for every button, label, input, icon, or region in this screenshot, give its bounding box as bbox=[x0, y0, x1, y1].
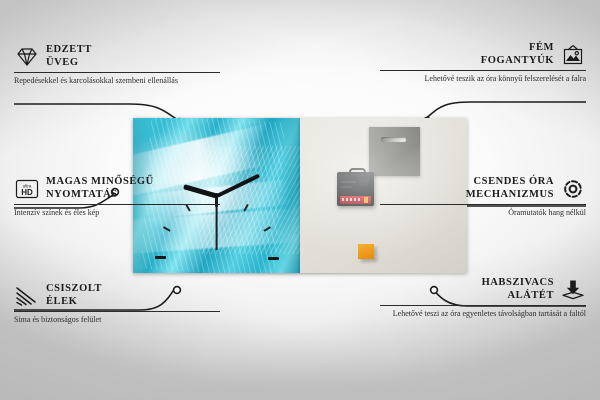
callout-rule bbox=[14, 204, 220, 205]
callout-rule bbox=[14, 311, 220, 312]
diamond-icon bbox=[14, 46, 40, 68]
callout-tempered-glass: EDZETT ÜVEG Repedésekkel és karcolásokka… bbox=[14, 44, 220, 86]
callout-rule bbox=[380, 70, 586, 71]
hanger-plate bbox=[369, 127, 420, 176]
callout-quiet-mechanism: CSENDES ÓRA MECHANIZMUS Óramutatók hang … bbox=[380, 176, 586, 218]
callout-title: MAGAS MINŐSÉGŰ NYOMTATÁS bbox=[46, 176, 154, 201]
callout-head: HABSZIVACS ALÁTÉT bbox=[380, 277, 586, 302]
mechanism-detail-2 bbox=[359, 179, 368, 186]
callout-head: CSISZOLT ÉLEK bbox=[14, 283, 220, 308]
callout-title: FÉM FOGANTYÚK bbox=[481, 42, 554, 67]
callout-title: CSENDES ÓRA MECHANIZMUS bbox=[466, 176, 554, 201]
callout-description: Lehetővé teszik az óra könnyű felszerelé… bbox=[380, 74, 586, 84]
battery bbox=[340, 196, 371, 204]
callout-high-quality-print: ultra HD MAGAS MINŐSÉGŰ NYOMTATÁS Intenz… bbox=[14, 176, 220, 218]
mechanism-detail-3 bbox=[341, 186, 352, 188]
gear-icon bbox=[560, 178, 586, 200]
foam-pad bbox=[358, 244, 374, 259]
callout-head: EDZETT ÜVEG bbox=[14, 44, 220, 69]
callout-title: CSISZOLT ÉLEK bbox=[46, 283, 102, 308]
hanger-slot bbox=[381, 137, 406, 142]
polished-edge-icon bbox=[14, 285, 40, 307]
foam-pad-arrow-icon bbox=[560, 279, 586, 301]
callout-description: Sima és biztonságos felület bbox=[14, 315, 220, 325]
callout-rule bbox=[380, 305, 586, 306]
connector-metal bbox=[425, 102, 586, 119]
callout-head: ultra HD MAGAS MINŐSÉGŰ NYOMTATÁS bbox=[14, 176, 220, 201]
callout-title: HABSZIVACS ALÁTÉT bbox=[482, 277, 554, 302]
callout-rule bbox=[380, 204, 586, 205]
hour-mark-9 bbox=[155, 257, 217, 259]
callout-metal-hangers: FÉM FOGANTYÚK Lehetővé teszik az óra kön… bbox=[380, 42, 586, 84]
mechanism-hook bbox=[349, 168, 366, 177]
callout-description: Intenzív színek és éles kép bbox=[14, 208, 220, 218]
clock-hand-minute bbox=[216, 173, 260, 197]
callout-rule bbox=[14, 72, 220, 73]
callout-description: Lehetővé teszi az óra egyenletes távolsá… bbox=[380, 309, 586, 319]
svg-text:HD: HD bbox=[21, 188, 33, 197]
callout-description: Repedésekkel és karcolásokkal szembeni e… bbox=[14, 76, 220, 86]
mechanism-detail-1 bbox=[341, 181, 356, 183]
callout-head: CSENDES ÓRA MECHANIZMUS bbox=[380, 176, 586, 201]
callout-foam-pad: HABSZIVACS ALÁTÉT Lehetővé teszi az óra … bbox=[380, 277, 586, 319]
callout-description: Óramutatók hang nélkül bbox=[380, 208, 586, 218]
ultra-hd-icon: ultra HD bbox=[14, 178, 40, 200]
callout-polished-edges: CSISZOLT ÉLEK Sima és biztonságos felüle… bbox=[14, 283, 220, 325]
picture-hanger-icon bbox=[560, 44, 586, 66]
callout-title: EDZETT ÜVEG bbox=[46, 44, 92, 69]
infographic-canvas: EDZETT ÜVEG Repedésekkel és karcolásokka… bbox=[0, 0, 600, 400]
callout-head: FÉM FOGANTYÚK bbox=[380, 42, 586, 67]
battery-label bbox=[342, 198, 362, 201]
hour-mark-3 bbox=[217, 257, 279, 259]
clock-mechanism bbox=[337, 172, 374, 206]
